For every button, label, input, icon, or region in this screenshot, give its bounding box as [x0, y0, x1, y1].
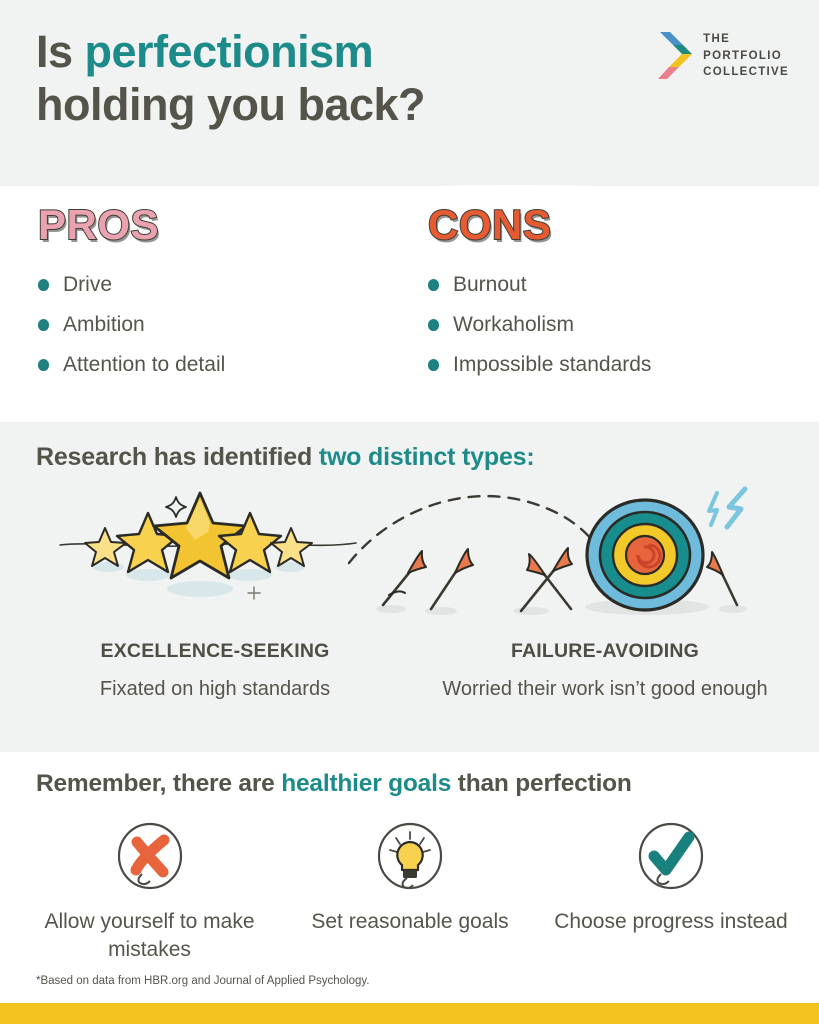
bullet-icon [38, 279, 49, 291]
logo-line-3: COLLECTIVE [703, 66, 789, 78]
divider-wave-3 [0, 746, 819, 760]
goal-item-allow-mistakes: Allow yourself to make mistakes [32, 818, 267, 964]
title-highlight-perfectionism: perfectionism [85, 26, 374, 77]
cons-item-label: Burnout [453, 272, 527, 297]
cons-item-label: Workaholism [453, 312, 574, 337]
footer-accent-bar [0, 1003, 819, 1024]
divider-wave-1 [0, 180, 819, 194]
cons-heading: CONS [428, 204, 651, 246]
list-item: Drive [38, 272, 225, 297]
cons-column: CONS Burnout Workaholism Impossible stan… [428, 204, 651, 393]
bullet-icon [38, 319, 49, 331]
list-item: Attention to detail [38, 352, 225, 377]
pros-list: Drive Ambition Attention to detail [38, 272, 225, 378]
types-heading: Research has identified two distinct typ… [36, 443, 534, 472]
footnote-text: *Based on data from HBR.org and Journal … [36, 975, 369, 987]
types-illustrations [0, 483, 819, 623]
brand-logo[interactable]: THE PORTFOLIO COLLECTIVE [658, 30, 789, 82]
title-line2: holding you back? [36, 79, 425, 130]
bullet-icon [428, 279, 439, 291]
pros-heading: PROS [38, 204, 225, 246]
cons-list: Burnout Workaholism Impossible standards [428, 272, 651, 378]
lightbulb-icon [290, 818, 530, 894]
types-heading-highlight: two distinct types: [319, 443, 535, 471]
goal-item-reasonable-goals: Set reasonable goals [290, 818, 530, 936]
type-excellence-seeking: EXCELLENCE-SEEKING Fixated on high stand… [35, 640, 395, 703]
type-title: FAILURE-AVOIDING [420, 640, 790, 663]
list-item: Ambition [38, 312, 225, 337]
list-item: Impossible standards [428, 352, 651, 377]
bullet-icon [428, 359, 439, 371]
logo-wordmark: THE PORTFOLIO COLLECTIVE [703, 31, 789, 81]
goal-item-choose-progress: Choose progress instead [552, 818, 790, 936]
goals-heading-suffix: than perfection [451, 770, 632, 797]
portfolio-collective-chevron-icon [658, 30, 694, 82]
title-line1-prefix: Is [36, 26, 85, 77]
logo-line-2: PORTFOLIO [703, 50, 782, 62]
goals-heading-prefix: Remember, there are [36, 770, 281, 797]
cons-item-label: Impossible standards [453, 352, 651, 377]
pros-column: PROS Drive Ambition Attention to detail [38, 204, 225, 393]
pros-item-label: Ambition [63, 312, 145, 337]
goal-label: Choose progress instead [552, 908, 790, 936]
type-subtitle: Worried their work isn’t good enough [420, 676, 790, 703]
checkmark-icon [552, 818, 790, 894]
pros-item-label: Drive [63, 272, 112, 297]
cross-x-icon [32, 818, 267, 894]
list-item: Workaholism [428, 312, 651, 337]
divider-wave-2 [0, 416, 819, 430]
bullet-icon [428, 319, 439, 331]
target-with-missed-arrows-illustration-icon [345, 477, 765, 625]
infographic-page: Is perfectionism holding you back? THE P… [0, 0, 819, 1024]
pros-item-label: Attention to detail [63, 352, 225, 377]
list-item: Burnout [428, 272, 651, 297]
goal-label: Set reasonable goals [290, 908, 530, 936]
five-stars-illustration-icon [58, 483, 358, 603]
goals-heading-highlight: healthier goals [281, 770, 451, 797]
goals-heading: Remember, there are healthier goals than… [36, 770, 796, 798]
goal-label: Allow yourself to make mistakes [32, 908, 267, 964]
type-title: EXCELLENCE-SEEKING [35, 640, 395, 663]
types-heading-prefix: Research has identified [36, 443, 319, 471]
page-title: Is perfectionism holding you back? [36, 25, 596, 131]
type-subtitle: Fixated on high standards [35, 676, 395, 703]
bullet-icon [38, 359, 49, 371]
logo-line-1: THE [703, 33, 730, 45]
type-failure-avoiding: FAILURE-AVOIDING Worried their work isn’… [420, 640, 790, 703]
